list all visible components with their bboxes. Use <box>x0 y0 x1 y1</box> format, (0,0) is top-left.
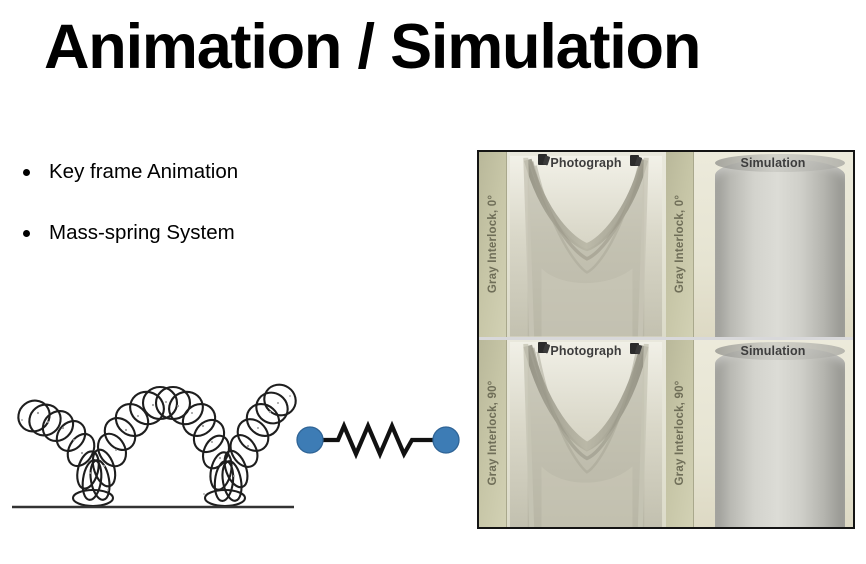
draped-cloth-photo-render <box>506 340 666 528</box>
cloth-comparison-figure: Gray Interlock, 0° <box>477 150 855 529</box>
bullet-dot-icon <box>23 169 30 176</box>
simulated-cloth-cylinder <box>715 347 845 528</box>
photograph-image: Photograph <box>506 152 666 337</box>
list-item: Key frame Animation <box>20 160 420 185</box>
row-axis-label-strip: Gray Interlock, 0° <box>666 152 694 337</box>
bullet-label: Key frame Animation <box>49 160 238 183</box>
cloth-cell-simulation-90deg: Gray Interlock, 90° Simulation <box>666 340 853 528</box>
bouncing-ball-keyframe-diagram <box>8 358 298 523</box>
simulation-image: Simulation <box>693 152 853 337</box>
bullet-dot-icon <box>23 230 30 237</box>
simulation-image: Simulation <box>693 340 853 528</box>
cell-caption: Photograph <box>506 344 666 358</box>
row-axis-label-strip: Gray Interlock, 0° <box>479 152 507 337</box>
photograph-image: Photograph <box>506 340 666 528</box>
draped-cloth-photo-render <box>506 152 666 337</box>
cloth-cell-photograph-90deg: Gray Interlock, 90° <box>479 340 666 528</box>
row-axis-label: Gray Interlock, 90° <box>674 381 686 486</box>
cell-caption: Photograph <box>506 156 666 170</box>
simulated-cloth-cylinder <box>715 159 845 337</box>
row-axis-label-strip: Gray Interlock, 90° <box>479 340 507 528</box>
mass-node-right <box>433 427 459 453</box>
cloth-row-0deg: Gray Interlock, 0° <box>479 152 853 340</box>
mass-node-left <box>297 427 323 453</box>
spring-zigzag-icon <box>318 426 438 454</box>
row-axis-label: Gray Interlock, 0° <box>674 195 686 293</box>
cloth-cell-photograph-0deg: Gray Interlock, 0° <box>479 152 666 337</box>
mass-spring-diagram <box>292 404 464 476</box>
bullet-label: Mass-spring System <box>49 221 235 244</box>
page-title: Animation / Simulation <box>44 14 700 80</box>
cloth-row-90deg: Gray Interlock, 90° <box>479 340 853 528</box>
bullet-list: Key frame Animation Mass-spring System <box>20 160 420 281</box>
cell-caption: Simulation <box>693 156 853 170</box>
list-item: Mass-spring System <box>20 221 420 246</box>
cloth-cell-simulation-0deg: Gray Interlock, 0° Simulation <box>666 152 853 337</box>
row-axis-label: Gray Interlock, 0° <box>487 195 499 293</box>
row-axis-label: Gray Interlock, 90° <box>487 381 499 486</box>
cell-caption: Simulation <box>693 344 853 358</box>
row-axis-label-strip: Gray Interlock, 90° <box>666 340 694 528</box>
